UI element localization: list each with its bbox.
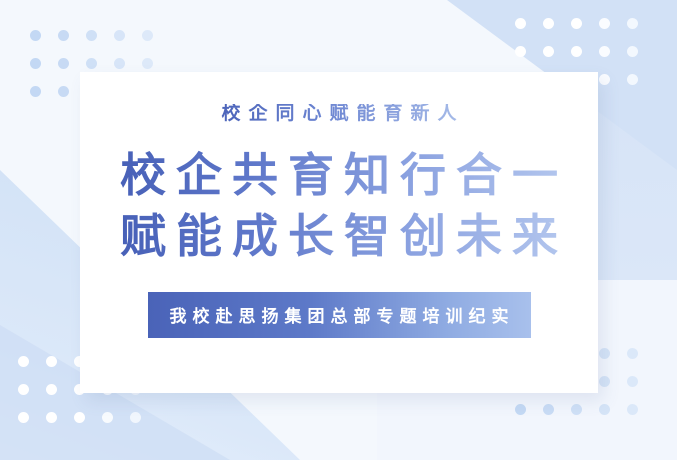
dot <box>543 404 554 415</box>
poster-subtitle-badge: 我校赴思扬集团总部专题培训纪实 <box>148 292 531 338</box>
dot <box>627 348 638 359</box>
dot <box>515 46 526 57</box>
dot <box>46 384 57 395</box>
dot <box>515 404 526 415</box>
dot <box>599 46 610 57</box>
dot <box>18 356 29 367</box>
dot <box>114 58 125 69</box>
dot <box>18 412 29 423</box>
dot <box>627 74 638 85</box>
poster-banner: 校企同心赋能育新人 校企共育知行合一 赋能成长智创未来 我校赴思扬集团总部专题培… <box>0 0 677 460</box>
dot <box>46 412 57 423</box>
dot <box>627 46 638 57</box>
dot <box>599 18 610 29</box>
dot <box>30 30 41 41</box>
dot <box>627 376 638 387</box>
dot <box>86 30 97 41</box>
poster-headline-line-2: 赋能成长智创未来 <box>110 206 568 267</box>
poster-headline-line-1: 校企共育知行合一 <box>110 145 568 206</box>
dot <box>543 18 554 29</box>
dot <box>571 46 582 57</box>
dot <box>571 18 582 29</box>
dot <box>58 30 69 41</box>
poster-eyebrow: 校企同心赋能育新人 <box>213 104 464 123</box>
dot <box>58 58 69 69</box>
dot <box>599 348 610 359</box>
dot <box>571 404 582 415</box>
dot <box>46 356 57 367</box>
dot <box>130 412 141 423</box>
dot <box>599 74 610 85</box>
dot <box>543 46 554 57</box>
dot <box>30 58 41 69</box>
dot <box>599 376 610 387</box>
dot <box>627 18 638 29</box>
dot <box>515 18 526 29</box>
dot <box>114 30 125 41</box>
dot <box>30 86 41 97</box>
dot <box>58 86 69 97</box>
dot <box>74 412 85 423</box>
dot <box>18 384 29 395</box>
dot <box>102 412 113 423</box>
content-card: 校企同心赋能育新人 校企共育知行合一 赋能成长智创未来 我校赴思扬集团总部专题培… <box>80 72 598 393</box>
dot <box>599 404 610 415</box>
dot <box>627 404 638 415</box>
dot <box>142 30 153 41</box>
dot <box>86 58 97 69</box>
dot <box>142 58 153 69</box>
